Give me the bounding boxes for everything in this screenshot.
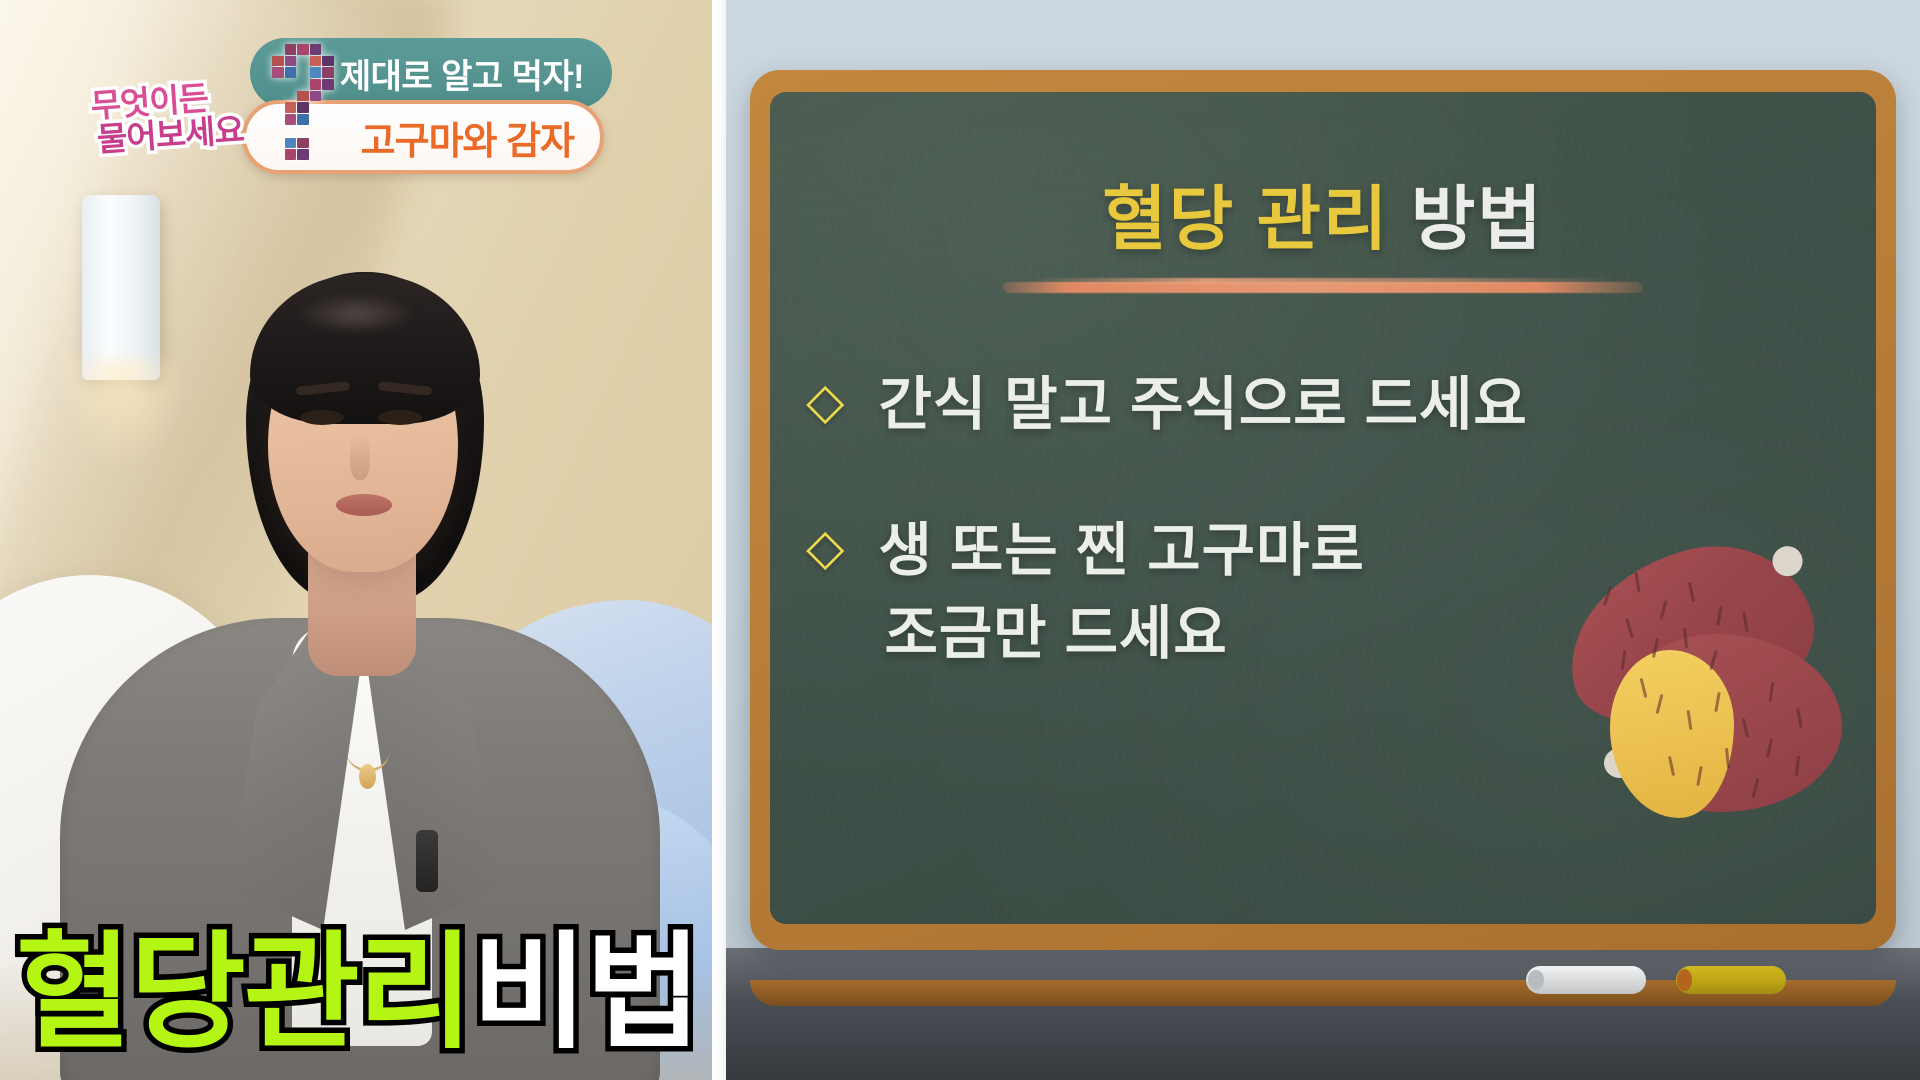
question-mark-pixel bbox=[335, 114, 346, 125]
question-mark-pixel bbox=[297, 126, 308, 137]
question-mark-pixel bbox=[297, 149, 308, 160]
question-mark-pixel bbox=[297, 91, 308, 102]
question-mark-pixel bbox=[310, 79, 321, 90]
question-mark-pixel bbox=[260, 149, 271, 160]
question-mark-pixel bbox=[297, 114, 308, 125]
question-mark-pixel bbox=[310, 56, 321, 67]
sweet-potato-flesh bbox=[1610, 650, 1734, 818]
question-mark-pixel bbox=[310, 44, 321, 55]
blackboard-panel: 혈당 관리 방법 ◇ 간식 말고 주식으로 드세요 ◇ 생 또는 찐 고 bbox=[726, 0, 1920, 1080]
question-mark-pixel bbox=[322, 56, 333, 67]
question-mark-pixel bbox=[335, 149, 346, 160]
chalkboard-title: 혈당 관리 방법 bbox=[770, 184, 1876, 254]
question-mark-pixel bbox=[260, 114, 271, 125]
question-mark-pixel bbox=[285, 149, 296, 160]
diamond-bullet-icon: ◇ bbox=[806, 368, 844, 434]
question-mark-pixel bbox=[310, 114, 321, 125]
question-mark-pixel bbox=[285, 44, 296, 55]
burned-in-caption: 혈당관리비법 bbox=[16, 930, 700, 1056]
question-mark-pixel bbox=[297, 138, 308, 149]
question-mark-pixel bbox=[285, 56, 296, 67]
question-mark-pixel bbox=[272, 114, 283, 125]
question-mark-pixel bbox=[335, 138, 346, 149]
question-mark-pixel bbox=[285, 67, 296, 78]
question-mark-pixel bbox=[272, 149, 283, 160]
bullet-text-line2: 조금만 드세요 bbox=[884, 593, 1364, 675]
chalk-piece-white bbox=[1526, 966, 1646, 994]
question-mark-pixel bbox=[310, 91, 321, 102]
question-mark-pixel bbox=[310, 138, 321, 149]
presenter-eye-right bbox=[378, 410, 422, 425]
question-mark-pixel bbox=[335, 91, 346, 102]
question-mark-pixel bbox=[285, 138, 296, 149]
lapel-microphone-icon bbox=[416, 830, 438, 892]
question-mark-pixel bbox=[272, 126, 283, 137]
question-mark-pixel bbox=[272, 56, 283, 67]
bullet-text: 생 또는 찐 고구마로 조금만 드세요 bbox=[878, 510, 1364, 675]
question-mark-pixel bbox=[260, 44, 271, 55]
question-mark-pixel bbox=[335, 67, 346, 78]
video-panel: 제대로 알고 먹자! 고구마와 감자 무엇이든 물어보세요 bbox=[0, 0, 712, 1080]
question-mark-pixel bbox=[322, 67, 333, 78]
diamond-bullet-icon: ◇ bbox=[806, 514, 844, 580]
program-bug: 제대로 알고 먹자! 고구마와 감자 무엇이든 물어보세요 bbox=[92, 38, 612, 178]
question-mark-pixel bbox=[322, 44, 333, 55]
question-mark-pixel bbox=[322, 149, 333, 160]
sweet-potato-icon bbox=[1558, 542, 1858, 812]
question-mark-pixel bbox=[272, 67, 283, 78]
panel-divider bbox=[712, 0, 726, 1080]
question-mark-pixel bbox=[285, 126, 296, 137]
question-mark-pixel bbox=[297, 79, 308, 90]
question-mark-pixel bbox=[310, 149, 321, 160]
question-mark-pixel bbox=[272, 102, 283, 113]
question-mark-pixel bbox=[335, 44, 346, 55]
chalkboard-frame: 혈당 관리 방법 ◇ 간식 말고 주식으로 드세요 ◇ 생 또는 찐 고 bbox=[750, 70, 1896, 950]
presenter-lips bbox=[336, 494, 392, 516]
caption-rest: 비법 bbox=[472, 930, 700, 1056]
question-mark-pixel bbox=[335, 79, 346, 90]
question-mark-pixel bbox=[272, 91, 283, 102]
chalkboard-surface: 혈당 관리 방법 ◇ 간식 말고 주식으로 드세요 ◇ 생 또는 찐 고 bbox=[770, 92, 1876, 924]
question-mark-pixel bbox=[260, 102, 271, 113]
badge-topic-label: 고구마와 감자 bbox=[361, 110, 574, 165]
question-mark-pixel bbox=[260, 79, 271, 90]
question-mark-pixel bbox=[260, 67, 271, 78]
pixel-question-mark-icon bbox=[260, 44, 346, 160]
question-mark-pixel bbox=[335, 126, 346, 137]
chalkboard-title-highlight: 혈당 관리 bbox=[1102, 180, 1389, 258]
question-mark-pixel bbox=[322, 79, 333, 90]
list-item: ◇ 간식 말고 주식으로 드세요 bbox=[806, 364, 1840, 446]
question-mark-pixel bbox=[297, 56, 308, 67]
bullet-text-line1: 간식 말고 주식으로 드세요 bbox=[878, 372, 1527, 437]
question-mark-pixel bbox=[322, 102, 333, 113]
bullet-text-line1: 생 또는 찐 고구마로 bbox=[878, 518, 1364, 583]
question-mark-pixel bbox=[285, 114, 296, 125]
question-mark-pixel bbox=[272, 138, 283, 149]
question-mark-pixel bbox=[260, 56, 271, 67]
question-mark-pixel bbox=[322, 126, 333, 137]
question-mark-pixel bbox=[322, 91, 333, 102]
question-mark-pixel bbox=[297, 44, 308, 55]
question-mark-pixel bbox=[260, 91, 271, 102]
chalkboard-title-rest: 방법 bbox=[1411, 180, 1544, 258]
question-mark-pixel bbox=[297, 102, 308, 113]
bullet-text: 간식 말고 주식으로 드세요 bbox=[878, 364, 1527, 446]
question-mark-pixel bbox=[322, 114, 333, 125]
presenter-eye-left bbox=[300, 410, 344, 425]
presenter-nose bbox=[350, 434, 370, 480]
question-mark-pixel bbox=[310, 126, 321, 137]
screenshot-root: 제대로 알고 먹자! 고구마와 감자 무엇이든 물어보세요 혈당 관리 방법 bbox=[0, 0, 1920, 1080]
question-mark-pixel bbox=[285, 102, 296, 113]
question-mark-pixel bbox=[285, 91, 296, 102]
question-mark-pixel bbox=[297, 67, 308, 78]
caption-highlight: 혈당관리 bbox=[16, 930, 472, 1056]
question-mark-pixel bbox=[310, 102, 321, 113]
presenter-hair-sheen bbox=[296, 294, 416, 334]
question-mark-pixel bbox=[285, 79, 296, 90]
presenter-pendant bbox=[359, 764, 376, 789]
question-mark-pixel bbox=[260, 126, 271, 137]
question-mark-pixel bbox=[272, 79, 283, 90]
question-mark-pixel bbox=[335, 102, 346, 113]
question-mark-pixel bbox=[310, 67, 321, 78]
chalk-piece-yellow bbox=[1676, 966, 1786, 994]
program-logo-line2: 물어보세요 bbox=[95, 103, 245, 161]
question-mark-pixel bbox=[272, 44, 283, 55]
question-mark-pixel bbox=[322, 138, 333, 149]
badge-subtitle-label: 제대로 알고 먹자! bbox=[340, 49, 584, 98]
chalkboard-title-underline bbox=[1003, 282, 1643, 293]
question-mark-pixel bbox=[260, 138, 271, 149]
question-mark-pixel bbox=[335, 56, 346, 67]
